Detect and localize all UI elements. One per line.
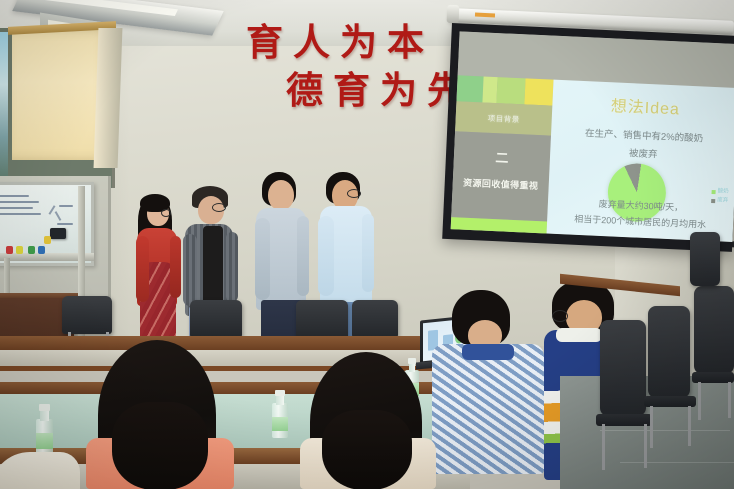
projected-slide: 项目背景 二 资源回收值得重视 想法Idea 在生产、销售中有2%的酸奶 被废弃 (451, 31, 734, 242)
projector-screen: 项目背景 二 资源回收值得重视 想法Idea 在生产、销售中有2%的酸奶 被废弃 (442, 23, 734, 252)
marker-green (28, 246, 35, 254)
slide-sidebar: 项目背景 二 资源回收值得重视 (451, 75, 554, 233)
water-bottle-2 (36, 404, 53, 456)
projector-screen-roller-cap (447, 5, 460, 24)
marker-red (6, 246, 13, 254)
slide-section-number: 二 (454, 145, 551, 168)
slide-section-label-band: 项目背景 (455, 101, 552, 135)
screenshot-photo: 育人为本 德育为先 项目背景 二 (0, 0, 734, 489)
presenter-2-glasses (212, 203, 226, 212)
legend-swatch-green (712, 189, 716, 193)
floor (560, 376, 734, 489)
slide-title: 想法Idea (552, 90, 734, 122)
projector-screen-surface: 项目背景 二 资源回收值得重视 想法Idea 在生产、销售中有2%的酸奶 被废弃 (451, 31, 734, 242)
audience-back-left-polo (432, 344, 544, 474)
water-bottle-1 (272, 390, 288, 438)
slide-green-band (451, 217, 547, 242)
marker-yellow (16, 246, 23, 254)
marker-yellow-2 (44, 236, 51, 244)
wall-calligraphy-line-1: 育人为本 (246, 12, 434, 66)
whiteboard-eraser (50, 228, 66, 239)
swatch-1 (456, 75, 483, 102)
wall-calligraphy-line-2: 德育为先 (286, 60, 474, 114)
projector-screen-roller-tag (475, 13, 495, 18)
slide-section-band: 二 资源回收值得重视 (451, 131, 551, 221)
slide-body: 想法Idea 在生产、销售中有2%的酸奶 被废弃 酸奶 废弃 (547, 80, 734, 242)
swatch-4 (524, 78, 553, 105)
blind-side-rail (94, 28, 123, 168)
audience-back-right-collar (556, 328, 602, 342)
swatch-3 (496, 77, 525, 104)
audience-back-right-glasses (552, 310, 568, 322)
slide-section-heading: 资源回收值得重视 (451, 175, 551, 193)
presenter-2-tee (203, 226, 223, 304)
slide-body-line-2: 被废弃 (550, 142, 734, 164)
audience-back-left-collar (462, 344, 514, 360)
audience-foreground-shoulder (0, 452, 80, 489)
slide-section-label: 项目背景 (487, 112, 519, 124)
presenter-1-glasses (161, 209, 171, 217)
window-glass (0, 32, 8, 182)
legend-label-1: 酸奶 (717, 187, 728, 196)
conference-table-rear-top (0, 336, 440, 350)
presenter-4-glasses (347, 189, 361, 198)
marker-blue (38, 246, 45, 254)
swatch-2 (482, 76, 497, 103)
